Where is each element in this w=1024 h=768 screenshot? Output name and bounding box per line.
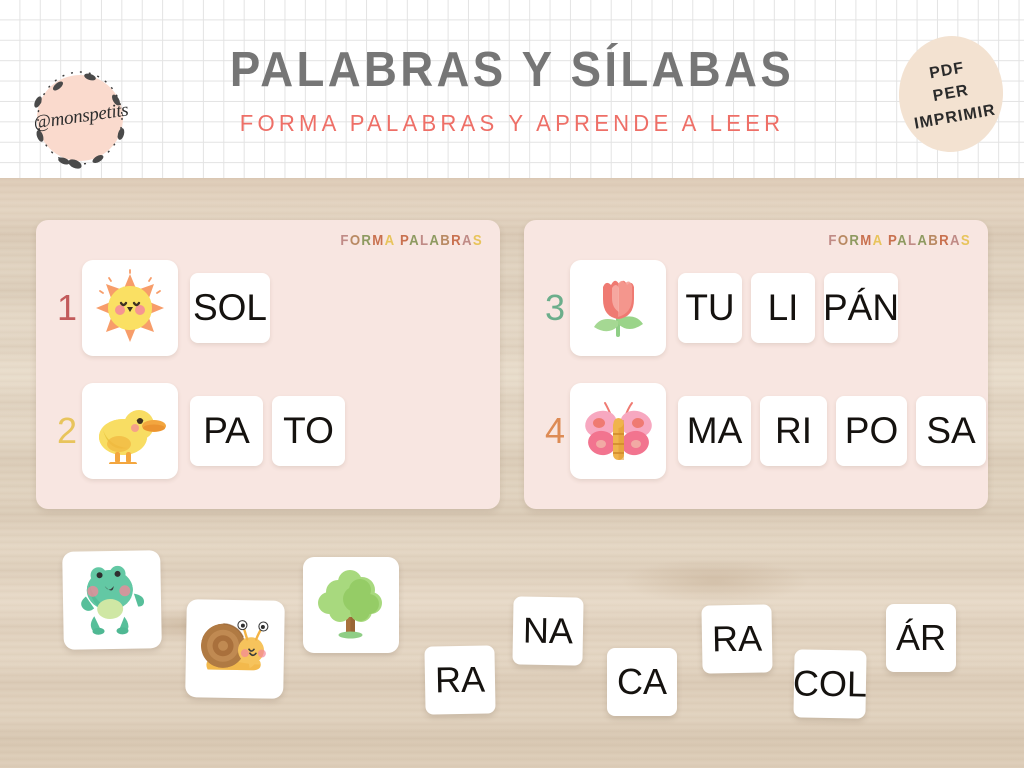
tulip-icon	[579, 269, 657, 347]
worksheet-page: @monspetits PALABRAS Y SÍLABAS FORMA PAL…	[0, 0, 1024, 768]
wood-knot	[620, 558, 810, 604]
word-row-2: 2 PA	[52, 383, 354, 479]
row-number-2: 2	[52, 413, 82, 449]
loose-syllable-card[interactable]: NA	[512, 596, 583, 665]
header-grid-paper: @monspetits PALABRAS Y SÍLABAS FORMA PAL…	[0, 0, 1024, 178]
page-title: PALABRAS Y SÍLABAS	[36, 42, 988, 98]
row-number-1: 1	[52, 290, 82, 326]
butterfly-icon	[579, 392, 657, 470]
syllable-card[interactable]: TU	[678, 273, 742, 343]
word-row-3: 3 TU LI PÁN	[540, 260, 907, 356]
loose-picture-card-caracol[interactable]	[185, 599, 285, 699]
syllable-card[interactable]: PÁN	[824, 273, 898, 343]
loose-syllable-card[interactable]: RA	[424, 645, 495, 714]
frog-icon	[71, 559, 152, 640]
loose-syllable-card[interactable]: RA	[701, 604, 772, 673]
row-number-3: 3	[540, 290, 570, 326]
picture-card-mariposa[interactable]	[570, 383, 666, 479]
row-number-4: 4	[540, 413, 570, 449]
activity-panel-1: FORMA PALABRAS 1	[36, 220, 500, 509]
snail-icon	[193, 607, 276, 690]
word-row-1: 1	[52, 260, 279, 356]
syllable-card[interactable]: PA	[190, 396, 263, 466]
syllable-card[interactable]: SA	[916, 396, 986, 466]
picture-card-pato[interactable]	[82, 383, 178, 479]
picture-card-tulipan[interactable]	[570, 260, 666, 356]
syllable-card[interactable]: MA	[678, 396, 751, 466]
word-row-4: 4	[540, 383, 995, 479]
loose-picture-card-rana[interactable]	[62, 550, 162, 650]
forma-palabras-label-2: FORMA PALABRAS	[828, 232, 971, 249]
page-subtitle: FORMA PALABRAS Y APRENDE A LEER	[20, 110, 1003, 137]
syllable-card[interactable]: RI	[760, 396, 827, 466]
syllable-card[interactable]: SOL	[190, 273, 270, 343]
syllable-card[interactable]: LI	[751, 273, 815, 343]
syllable-card[interactable]: PO	[836, 396, 907, 466]
forma-palabras-label-1: FORMA PALABRAS	[340, 232, 483, 249]
tree-icon	[312, 566, 390, 644]
loose-syllable-card[interactable]: CA	[607, 648, 677, 716]
loose-syllable-card[interactable]: ÁR	[886, 604, 956, 672]
duck-icon	[91, 392, 169, 470]
loose-syllable-card[interactable]: COL	[793, 649, 866, 718]
pdf-print-badge: PDF PER IMPRIMIR	[895, 33, 1007, 156]
picture-card-sol[interactable]	[82, 260, 178, 356]
sun-icon	[91, 269, 169, 347]
syllable-card[interactable]: TO	[272, 396, 345, 466]
activity-panel-2: FORMA PALABRAS 3 TU LI PÁN 4	[524, 220, 988, 509]
pdf-badge-text: PDF PER IMPRIMIR	[890, 28, 1013, 160]
loose-picture-card-arbol[interactable]	[303, 557, 399, 653]
